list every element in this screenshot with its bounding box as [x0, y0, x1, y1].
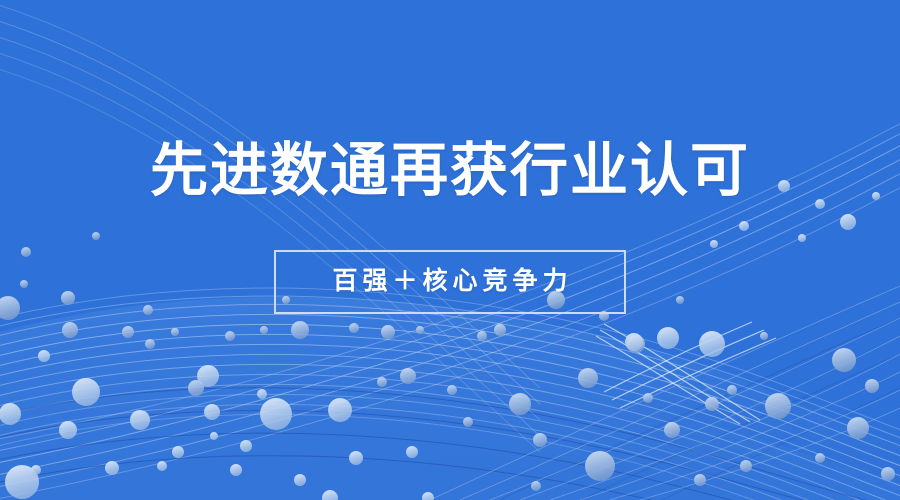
- decorative-background: [0, 0, 900, 500]
- promo-banner: 先进数通再获行业认可 百强＋核心竞争力: [0, 0, 900, 500]
